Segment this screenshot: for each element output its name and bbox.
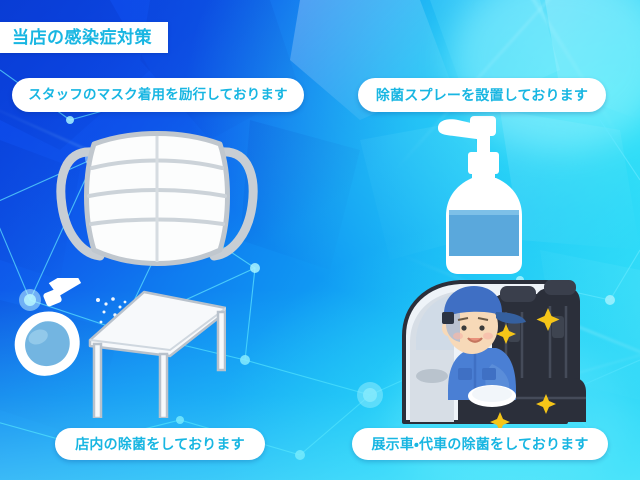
measure-label-sanitizer-spray-text: 除菌スプレーを設置しております [376,88,588,102]
measure-label-mask: スタッフのマスク着用を励行しております [12,78,304,112]
measure-label-vehicle-disinfection-text: 展示車・代車の除菌をしております [371,437,588,451]
measure-label-mask-text: スタッフのマスク着用を励行しております [28,88,288,102]
worker-cleaning-car-seats-icon [396,272,588,428]
surgical-mask-icon [52,122,262,274]
infographic-canvas: 当店の感染症対策 スタッフのマスク着用を励行しております 除菌スプレーを設置して… [0,0,640,480]
measure-label-vehicle-disinfection: 展示車・代車の除菌をしております [352,428,608,460]
measure-label-store-disinfection-text: 店内の除菌をしております [75,437,245,451]
spray-bottle-and-table-icon [0,278,226,418]
pump-dispenser-bottle-icon [424,112,544,278]
page-title-banner: 当店の感染症対策 [0,22,168,53]
page-title: 当店の感染症対策 [12,29,152,46]
measure-label-sanitizer-spray: 除菌スプレーを設置しております [358,78,606,112]
measure-label-store-disinfection: 店内の除菌をしております [55,428,265,460]
